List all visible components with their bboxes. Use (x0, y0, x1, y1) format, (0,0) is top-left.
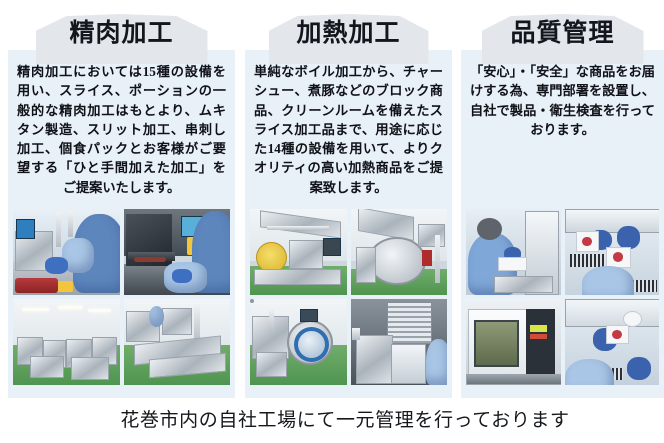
photo-steel-conveyor-line (124, 299, 231, 385)
photo-handling-culture-plates (565, 209, 660, 295)
infographic-stage: 精肉加工 精肉加工においては15種の設備を用い、スライス、ポーションの一般的な精… (0, 0, 664, 443)
panel-description: 「安心」・「安全」な商品をお届けする為、専門部署を設置し、自社で製品・衛生検査を… (470, 62, 655, 139)
photo-grid (13, 209, 230, 385)
panel-description: 単純なボイル加工から、チャーシュー、煮豚などのブロック商品、クリーンルームを備え… (254, 62, 443, 197)
photo-worker-slicing-meat (13, 209, 120, 295)
photo-laboratory-incubator (466, 299, 561, 385)
footer-caption-text: 花巻市内の自社工場にて一元管理を行っております (94, 408, 569, 434)
panel-title: 加熱加工 (245, 19, 452, 49)
photo-worker-packing-conveyor (124, 209, 231, 295)
panel-card: 単純なボイル加工から、チャーシュー、煮豚などのブロック商品、クリーンルームを備え… (245, 50, 452, 398)
panel-card: 「安心」・「安全」な商品をお届けする為、専門部署を設置し、自社で製品・衛生検査を… (461, 50, 664, 398)
panel-title: 精肉加工 (8, 19, 235, 49)
panel-kanetsu-kako: 加熱加工 単純なボイル加工から、チャーシュー、煮豚などのブロック商品、クリーンル… (245, 0, 452, 400)
footer-caption: 花巻市内の自社工場にて一元管理を行っております (0, 398, 664, 443)
panel-banner: 精肉加工 (8, 0, 235, 62)
panel-hinshitsu-kanri: 品質管理 「安心」・「安全」な商品をお届けする為、専門部署を設置し、自社で製品・… (461, 0, 664, 400)
photo-placing-sample-plate (565, 299, 660, 385)
panel-card: 精肉加工においては15種の設備を用い、スライス、ポーションの一般的な精肉加工はも… (8, 50, 235, 398)
panel-title: 品質管理 (461, 19, 664, 49)
photo-grid (466, 209, 659, 385)
panel-seiniku-kako: 精肉加工 精肉加工においては15種の設備を用い、スライス、ポーションの一般的な精… (8, 0, 235, 400)
photo-grid (250, 209, 447, 385)
photo-technician-biosafety-cabinet (466, 209, 561, 295)
photo-film-wrapping-machine (250, 209, 347, 295)
photo-rotary-cooking-drum (250, 299, 347, 385)
photo-processing-room (13, 299, 120, 385)
panel-banner: 加熱加工 (245, 0, 452, 62)
feature-panels: 精肉加工 精肉加工においては15種の設備を用い、スライス、ポーションの一般的な精… (0, 0, 664, 400)
panel-description: 精肉加工においては15種の設備を用い、スライス、ポーションの一般的な精肉加工はも… (17, 62, 226, 197)
panel-banner: 品質管理 (461, 0, 664, 62)
photo-rotary-slicer (351, 209, 448, 295)
photo-stacked-trays-trolley (351, 299, 448, 385)
